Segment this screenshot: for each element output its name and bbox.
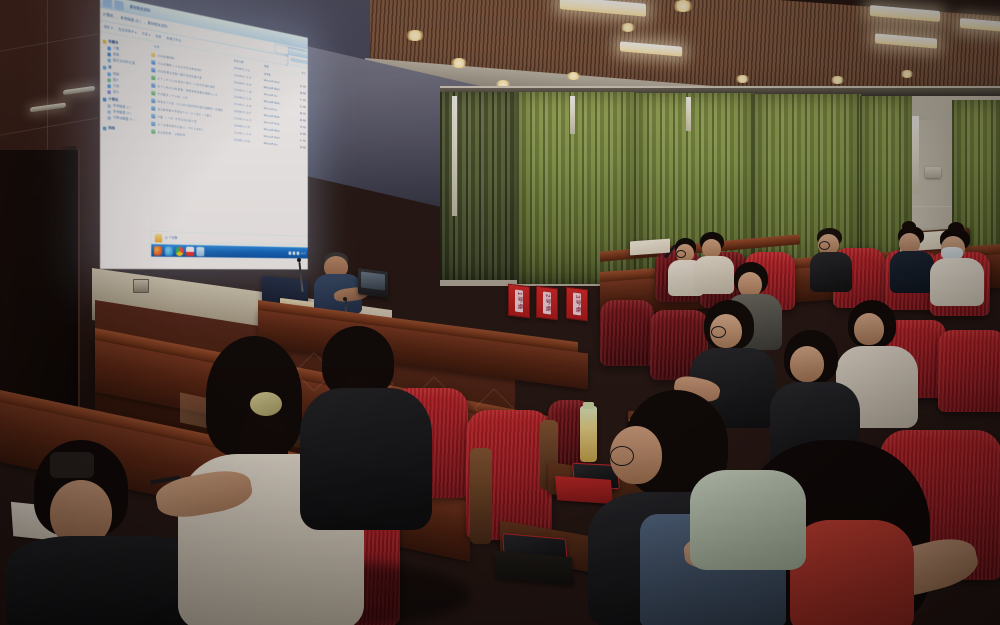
- downlight-5: [620, 23, 636, 32]
- notepad-row-right-2[interactable]: [630, 239, 670, 256]
- forward-button[interactable]: [115, 0, 124, 10]
- table-placard-3: 3号桌: [566, 287, 588, 322]
- dark-notebook[interactable]: [494, 550, 574, 585]
- hair-clip: [50, 452, 94, 478]
- curtain-light-gap-2: [570, 96, 575, 134]
- file-list-pane[interactable]: 名称 修改日期 类型 大小 2024年度材料2024/8/21 9:12文件夹2…: [151, 41, 308, 258]
- breadcrumb-computer[interactable]: 计算机: [103, 12, 114, 20]
- doc-icon: [151, 82, 155, 87]
- projector-control-panel[interactable]: [133, 279, 149, 293]
- seat-m4[interactable]: [938, 330, 1000, 412]
- recent-icon: [107, 58, 111, 63]
- video-icon: [107, 72, 111, 77]
- xls-icon: [151, 128, 155, 133]
- microphone-head-1: [297, 258, 301, 262]
- attendee-front-right-body: [300, 388, 432, 530]
- edge-icon[interactable]: [165, 246, 173, 256]
- downlight-8: [900, 70, 914, 78]
- tray-icon-2[interactable]: [293, 251, 296, 254]
- downlight-1: [405, 30, 425, 41]
- presenter-laptop[interactable]: [358, 268, 388, 298]
- file-date: 2024/8/12 8:50: [234, 138, 264, 145]
- wall-outlet: [925, 167, 941, 178]
- organize-menu[interactable]: 组织 ▾: [104, 24, 113, 31]
- photo-icon[interactable]: [196, 247, 204, 256]
- status-text: 11 个对象: [165, 236, 178, 241]
- window-title: 素材相关资料: [130, 4, 151, 14]
- attendee-back-5-body: [930, 258, 984, 306]
- curtain-light-gap-1: [452, 96, 457, 216]
- attendee-mid-2-glasses: [711, 326, 726, 338]
- curtain-light-gap-4: [912, 116, 919, 194]
- attendee-back-3-glasses: [819, 241, 830, 250]
- file-name: 会议签到表、议程安排: [157, 129, 185, 137]
- attendee-front-right: [300, 326, 436, 526]
- music-icon: [107, 90, 111, 94]
- hair-scrunchie: [250, 392, 282, 416]
- drive-icon-d: [107, 109, 111, 113]
- xls-icon: [151, 90, 155, 95]
- file-size: 26 KB: [289, 144, 307, 149]
- back-button[interactable]: [103, 0, 112, 8]
- placard-2-text: 2号桌: [543, 291, 551, 314]
- attendee-mint-top: [690, 470, 810, 574]
- computer-icon: [103, 97, 107, 101]
- navigation-pane[interactable]: 收藏夹 下载 桌面 最近访问的位置: [100, 32, 151, 257]
- attendee-back-4-body: [890, 251, 934, 293]
- library-icon: [103, 65, 107, 70]
- document-icon: [107, 84, 111, 88]
- include-library-menu[interactable]: 包含到库中 ▾: [118, 27, 136, 35]
- star-icon: [103, 39, 107, 44]
- downlight-6: [735, 75, 750, 83]
- downlight-9: [672, 0, 694, 12]
- placard-1-text: 1号桌: [515, 289, 523, 312]
- downlight-4: [566, 72, 581, 80]
- table-placard-1: 1号桌: [508, 284, 530, 319]
- attendee-far-right-glasses: [610, 446, 634, 466]
- burn-button[interactable]: 刻录: [155, 34, 161, 40]
- system-tray[interactable]: 10:27: [289, 251, 308, 255]
- pdf-icon[interactable]: [186, 246, 194, 255]
- tray-icon-1[interactable]: [289, 251, 292, 254]
- breadcrumb-folder[interactable]: 素材相关资料: [147, 20, 167, 30]
- drive-icon: [107, 103, 111, 107]
- picture-icon: [107, 78, 111, 83]
- taskbar[interactable]: 10:27: [151, 244, 308, 258]
- folder-icon: [151, 51, 155, 57]
- downlight-7: [830, 76, 845, 84]
- tray-icon-3[interactable]: [297, 251, 300, 254]
- desktop-icon: [107, 52, 111, 57]
- attendee-back-3: [810, 228, 856, 290]
- wall-seam-c: [47, 0, 48, 150]
- share-menu[interactable]: 共享 ▾: [142, 31, 151, 37]
- firefox-icon[interactable]: [154, 246, 162, 256]
- new-folder-button[interactable]: 新建文件夹: [166, 36, 181, 43]
- attendee-back-1-glasses: [676, 250, 686, 258]
- attendee-mid-4-head: [790, 346, 824, 382]
- removable-drive-icon: [107, 115, 111, 119]
- doc-icon: [151, 98, 155, 103]
- doc-icon: [151, 113, 155, 118]
- curtain-light-gap-3: [686, 97, 691, 131]
- seat-m1[interactable]: [600, 300, 654, 366]
- downlight-2: [450, 58, 468, 68]
- doc-icon: [151, 67, 155, 72]
- projection-screen: 素材相关资料 计算机 › 本地磁盘 (D:) › 素材相关资料 组织 ▾ 包含到…: [100, 0, 308, 269]
- folder-icon: [155, 234, 163, 243]
- nav-group-network[interactable]: 网络: [103, 125, 149, 135]
- file-type: Microsoft Exc...: [264, 141, 290, 147]
- attendee-mint-body: [690, 470, 806, 570]
- microphone-head-2: [343, 297, 347, 301]
- attendee-back-4-bun: [902, 221, 916, 232]
- seminar-room-photo: 素材相关资料 计算机 › 本地磁盘 (D:) › 素材相关资料 组织 ▾ 包含到…: [0, 0, 1000, 625]
- attendee-back-5-bun: [948, 222, 964, 235]
- placard-3-text: 3号桌: [573, 292, 581, 315]
- network-icon: [103, 126, 107, 130]
- doc-icon: [151, 59, 155, 65]
- taskbar-clock[interactable]: 10:27: [301, 251, 306, 254]
- file-size: [289, 78, 307, 81]
- chrome-icon[interactable]: [176, 246, 184, 256]
- xls-icon: [151, 74, 155, 79]
- breadcrumb-drive[interactable]: 本地磁盘 (D:): [120, 15, 141, 25]
- attendee-back-5-masked: [930, 228, 986, 304]
- doc-icon: [151, 105, 155, 110]
- download-icon: [107, 46, 111, 51]
- attendee-back-3-body: [810, 252, 852, 292]
- seat-arm-2: [470, 448, 492, 544]
- laptop-screen: [361, 272, 385, 291]
- doc-icon: [151, 121, 155, 126]
- table-placard-2: 2号桌: [536, 286, 558, 321]
